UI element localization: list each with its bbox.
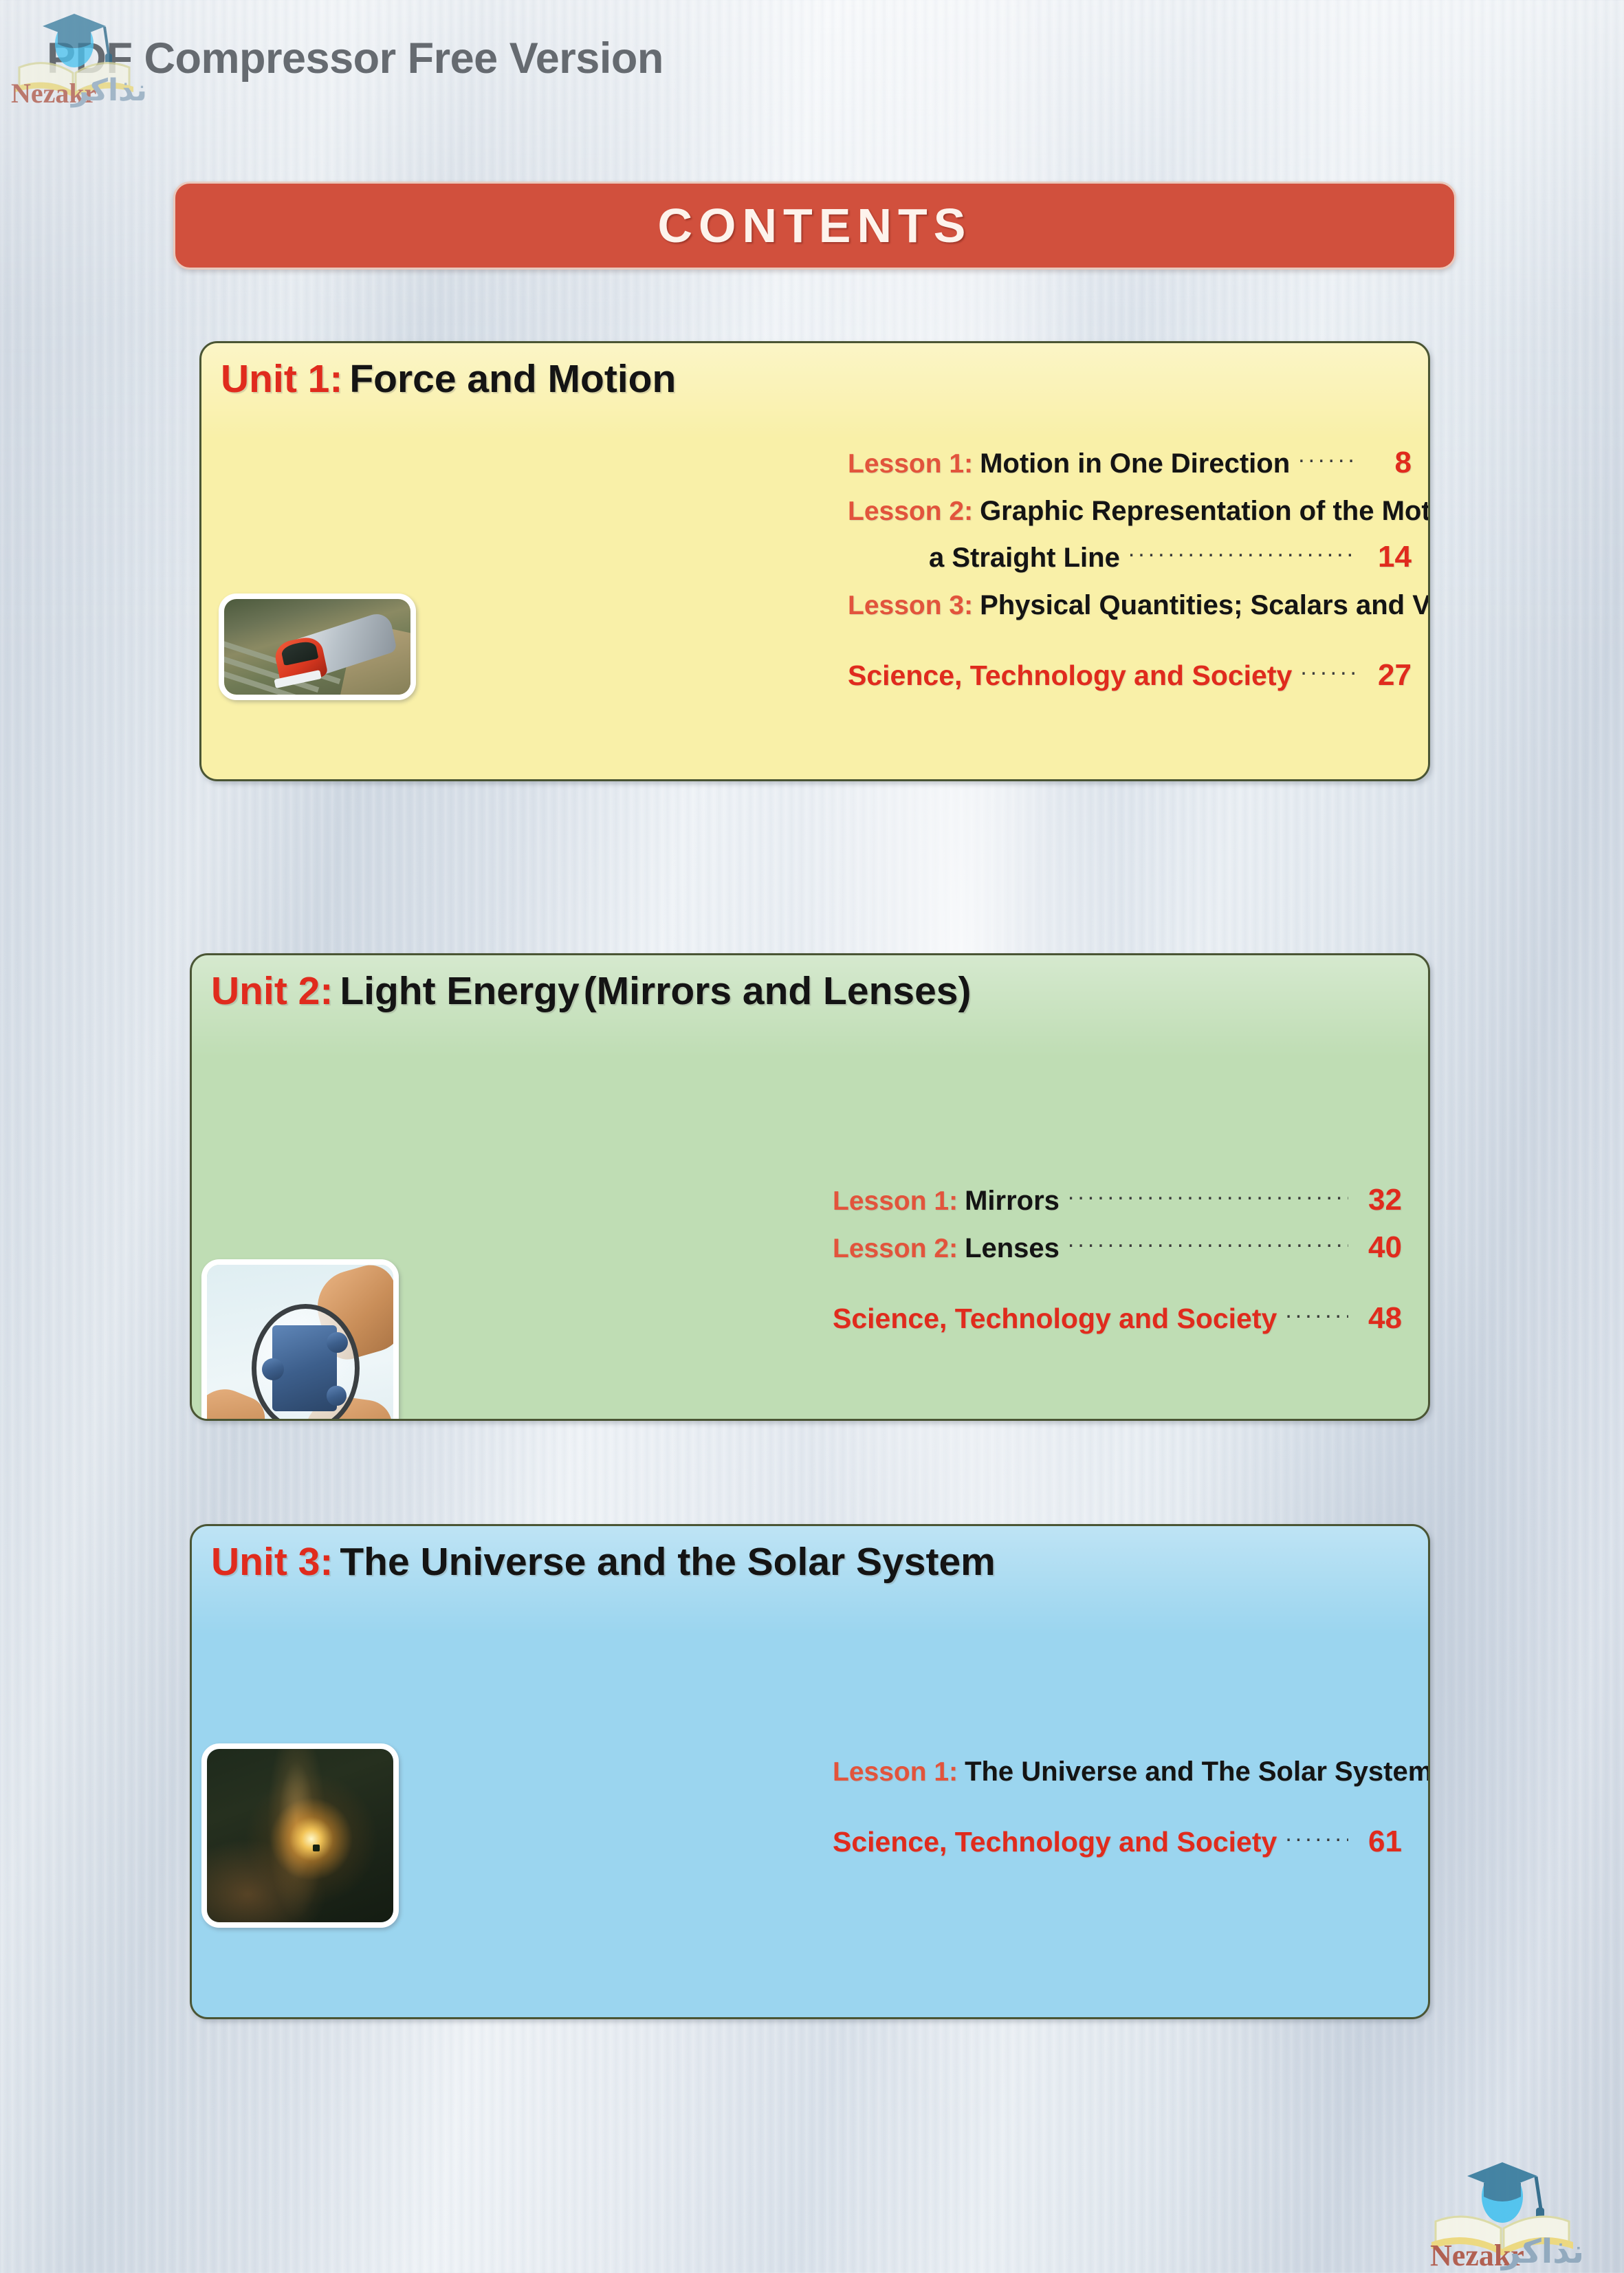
lesson-tag: Lesson 2: bbox=[833, 1234, 958, 1264]
page-number: 48 bbox=[1357, 1301, 1402, 1336]
lesson-title: Physical Quantities; Scalars and Vectors bbox=[980, 590, 1430, 621]
lesson-title: The Universe and The Solar System bbox=[965, 1757, 1430, 1787]
lesson-title: Lenses bbox=[965, 1233, 1060, 1264]
unit-3-thumbnail-galaxy bbox=[201, 1743, 399, 1928]
train-image bbox=[224, 599, 410, 695]
nezakr-arabic-top: نذاكر bbox=[72, 73, 147, 108]
science-technology-society-label: Science, Technology and Society bbox=[833, 1303, 1277, 1335]
science-technology-society-label: Science, Technology and Society bbox=[833, 1826, 1277, 1858]
page-number: 8 bbox=[1366, 446, 1412, 480]
page-number: 27 bbox=[1366, 658, 1412, 693]
unit-panel-1: Unit 1:Force and Motion Lesson 1: Motion… bbox=[199, 341, 1430, 781]
unit-2-label: Unit 2: bbox=[211, 969, 333, 1013]
unit-1-thumbnail-train bbox=[219, 594, 416, 700]
nezakr-logo-bottom: Nezakr نذاكر bbox=[1416, 2146, 1588, 2270]
page-number: 32 bbox=[1357, 1183, 1402, 1217]
unit-2-heading: Unit 2:Light Energy(Mirrors and Lenses) bbox=[211, 972, 971, 1011]
page-number: 14 bbox=[1366, 540, 1412, 574]
lesson-title: Graphic Representation of the Motion in bbox=[980, 496, 1430, 527]
lesson-title: Motion in One Direction bbox=[980, 448, 1290, 479]
unit-2-title: Light Energy bbox=[340, 969, 579, 1013]
toc-entry[interactable]: Lesson 1: Motion in One Direction 8 bbox=[848, 445, 1412, 480]
nezakr-arabic-bottom: نذاكر bbox=[1502, 2232, 1584, 2271]
unit-1-title: Force and Motion bbox=[349, 357, 676, 401]
magnifier-image bbox=[207, 1265, 393, 1421]
unit-panel-2: Unit 2:Light Energy(Mirrors and Lenses) … bbox=[190, 953, 1430, 1421]
toc-entry[interactable]: Lesson 1: Mirrors 32 bbox=[833, 1182, 1402, 1217]
lesson-tag: Lesson 1: bbox=[833, 1757, 958, 1787]
nezakr-logo-top: Nezakr نذاكر bbox=[6, 1, 143, 111]
unit-2-thumbnail-magnifier bbox=[201, 1259, 399, 1421]
unit-1-toc-list: Lesson 1: Motion in One Direction 8 Less… bbox=[848, 445, 1412, 705]
dot-leader bbox=[1298, 445, 1358, 472]
lesson-tag: Lesson 3: bbox=[848, 591, 973, 621]
dot-leader bbox=[1128, 539, 1358, 567]
lesson-tag: Lesson 1: bbox=[833, 1186, 958, 1217]
toc-entry[interactable]: a Straight Line 14 bbox=[848, 539, 1412, 574]
unit-3-heading: Unit 3:The Universe and the Solar System bbox=[211, 1543, 996, 1582]
contents-banner: CONTENTS bbox=[173, 182, 1456, 270]
unit-3-toc-list: Lesson 1: The Universe and The Solar Sys… bbox=[833, 1753, 1402, 1871]
unit-1-label: Unit 1: bbox=[221, 357, 342, 401]
page-title: CONTENTS bbox=[658, 198, 972, 253]
unit-2-toc-list: Lesson 1: Mirrors 32 Lesson 2: Lenses 40… bbox=[833, 1182, 1402, 1348]
dot-leader bbox=[1285, 1301, 1348, 1328]
toc-entry-sts[interactable]: Science, Technology and Society 61 bbox=[833, 1824, 1402, 1859]
dot-leader bbox=[1068, 1182, 1348, 1210]
page-number: 40 bbox=[1357, 1230, 1402, 1265]
page-number: 61 bbox=[1357, 1825, 1402, 1859]
dot-leader bbox=[1285, 1824, 1348, 1851]
toc-entry[interactable]: Lesson 1: The Universe and The Solar Sys… bbox=[833, 1753, 1402, 1788]
toc-entry[interactable]: Lesson 2: Lenses 40 bbox=[833, 1230, 1402, 1265]
unit-3-title: The Universe and the Solar System bbox=[340, 1540, 996, 1584]
unit-panel-3: Unit 3:The Universe and the Solar System… bbox=[190, 1524, 1430, 2019]
toc-entry-sts[interactable]: Science, Technology and Society 48 bbox=[833, 1301, 1402, 1336]
galaxy-image bbox=[207, 1749, 393, 1922]
unit-2-subtitle: (Mirrors and Lenses) bbox=[584, 969, 972, 1013]
toc-entry[interactable]: Lesson 3: Physical Quantities; Scalars a… bbox=[848, 587, 1412, 622]
toc-entry-sts[interactable]: Science, Technology and Society 27 bbox=[848, 657, 1412, 693]
unit-1-heading: Unit 1:Force and Motion bbox=[221, 360, 676, 399]
lesson-title: a Straight Line bbox=[929, 543, 1120, 574]
lesson-tag: Lesson 1: bbox=[848, 449, 973, 479]
science-technology-society-label: Science, Technology and Society bbox=[848, 660, 1292, 692]
dot-leader bbox=[1068, 1230, 1348, 1257]
unit-3-label: Unit 3: bbox=[211, 1540, 333, 1584]
toc-entry[interactable]: Lesson 2: Graphic Representation of the … bbox=[848, 492, 1412, 527]
lesson-title: Mirrors bbox=[965, 1186, 1060, 1217]
lesson-tag: Lesson 2: bbox=[848, 497, 973, 527]
dot-leader bbox=[1300, 657, 1358, 685]
